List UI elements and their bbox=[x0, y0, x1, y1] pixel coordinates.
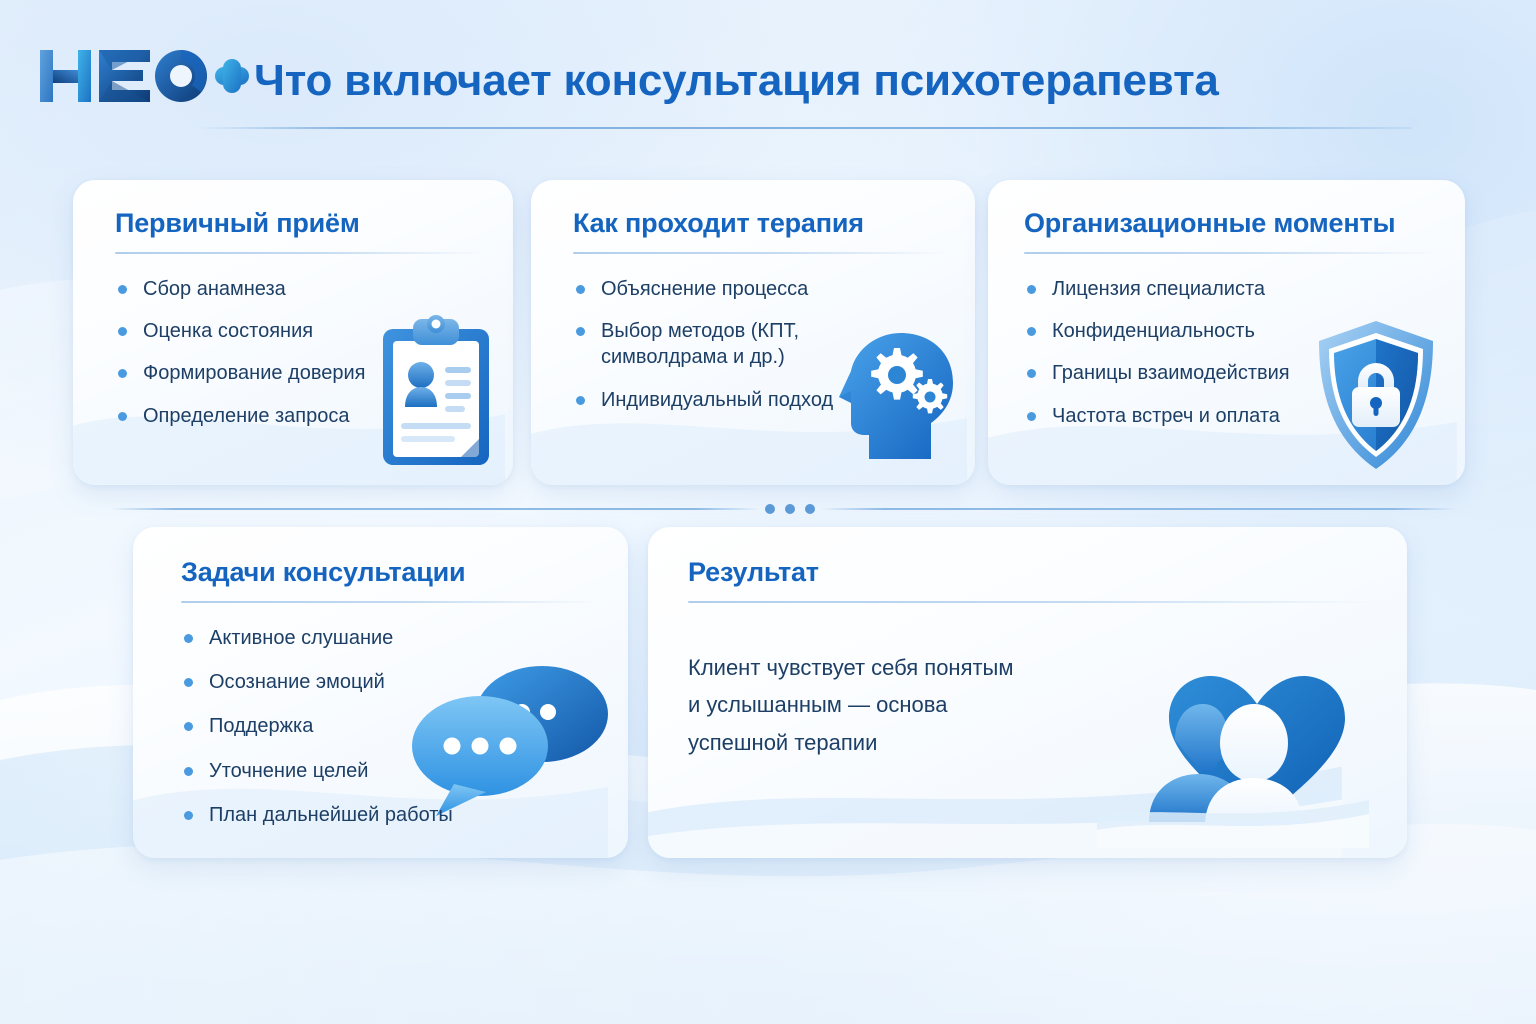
list-item: Выбор методов (КПТ, символдрама и др.) bbox=[573, 318, 828, 371]
card-bullet-list: Лицензия специалиста Конфиденциальность … bbox=[1024, 276, 1435, 430]
list-item: План дальнейшей работы bbox=[181, 802, 598, 828]
list-item: Уточнение целей bbox=[181, 758, 598, 784]
card-title-divider bbox=[115, 252, 483, 254]
list-item: Определение запроса bbox=[115, 403, 483, 429]
card-how-therapy-works: Как проходит терапия Объяснение процесса… bbox=[531, 180, 975, 485]
card-title: Задачи консультации bbox=[181, 557, 598, 588]
card-title: Первичный приём bbox=[115, 208, 483, 239]
list-item: Конфиденциальность bbox=[1024, 318, 1435, 344]
card-organizational-points: Организационные моменты Лицензия специал… bbox=[988, 180, 1465, 485]
card-title-divider bbox=[181, 601, 598, 603]
logo-letter-e bbox=[99, 50, 150, 102]
section-divider bbox=[0, 495, 1536, 525]
list-item: Лицензия специалиста bbox=[1024, 276, 1435, 302]
logo-letter-n bbox=[40, 50, 91, 102]
card-title-divider bbox=[573, 252, 945, 254]
card-title-divider bbox=[688, 601, 1377, 603]
page-header: Что включает консультация психотерапевта bbox=[0, 0, 1536, 150]
result-body-text: Клиент чувствует себя понятым и услышанн… bbox=[688, 649, 1108, 762]
list-item: Границы взаимодействия bbox=[1024, 360, 1435, 386]
brand-logo[interactable] bbox=[38, 46, 250, 110]
list-item: Оценка состояния bbox=[115, 318, 483, 344]
card-bullet-list: Объяснение процесса Выбор методов (КПТ, … bbox=[573, 276, 945, 414]
list-item: Осознание эмоций bbox=[181, 669, 598, 695]
card-primary-appointment: Первичный приём Сбор анамнеза Оценка сос… bbox=[73, 180, 513, 485]
list-item: Индивидуальный подход bbox=[573, 387, 945, 413]
divider-dot bbox=[765, 504, 775, 514]
divider-line-left bbox=[110, 508, 760, 510]
card-title: Организационные моменты bbox=[1024, 208, 1435, 239]
card-result: Результат Клиент чувствует себя понятым … bbox=[648, 527, 1407, 858]
list-item: Активное слушание bbox=[181, 625, 598, 651]
neo-plus-logo-icon bbox=[38, 46, 250, 110]
card-bullet-list: Сбор анамнеза Оценка состояния Формирова… bbox=[115, 276, 483, 430]
divider-line-right bbox=[820, 508, 1456, 510]
header-divider bbox=[200, 127, 1412, 129]
list-item: Поддержка bbox=[181, 713, 598, 739]
page-title: Что включает консультация психотерапевта bbox=[254, 56, 1219, 106]
card-consultation-tasks: Задачи консультации Активное слушание Ос… bbox=[133, 527, 628, 858]
card-title: Результат bbox=[688, 557, 1377, 588]
logo-plus-icon bbox=[215, 59, 249, 93]
divider-dot bbox=[785, 504, 795, 514]
logo-letter-o bbox=[155, 50, 207, 102]
result-line: Клиент чувствует себя понятым bbox=[688, 649, 1108, 687]
card-bullet-list: Активное слушание Осознание эмоций Подде… bbox=[181, 625, 598, 829]
list-item: Объяснение процесса bbox=[573, 276, 945, 302]
list-item: Частота встреч и оплата bbox=[1024, 403, 1435, 429]
list-item: Формирование доверия bbox=[115, 360, 483, 386]
result-line: успешной терапии bbox=[688, 724, 1108, 762]
result-line: и услышанным — основа bbox=[688, 686, 1108, 724]
card-title: Как проходит терапия bbox=[573, 208, 945, 239]
divider-dot bbox=[805, 504, 815, 514]
card-title-divider bbox=[1024, 252, 1435, 254]
list-item: Сбор анамнеза bbox=[115, 276, 483, 302]
